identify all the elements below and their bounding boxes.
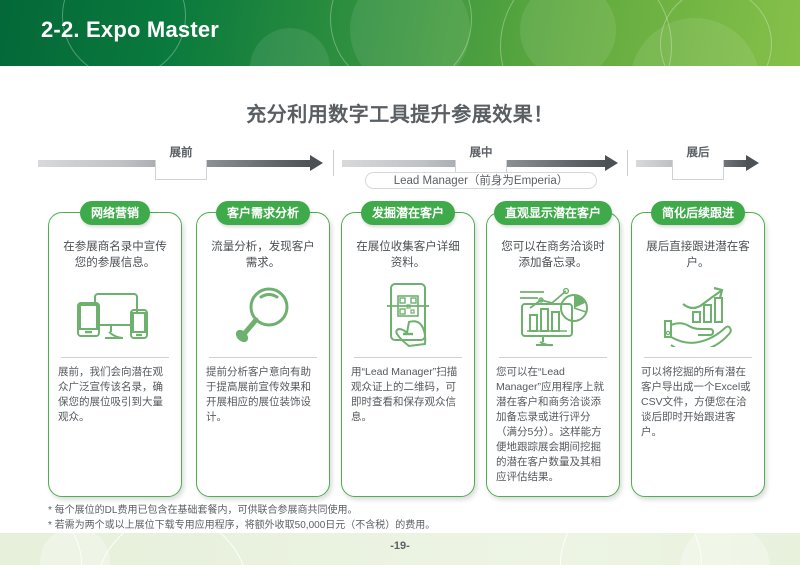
timeline-label-post: 展后: [668, 146, 728, 160]
header-decor-ring: [500, 0, 672, 66]
card-lead-text: 流量分析，发现客户需求。: [206, 239, 320, 271]
card-body-text: 可以将挖掘的所有潜在客户导出成一个Excel或CSV文件，方便您在洽谈后即时开始…: [641, 365, 755, 440]
card-title-pill: 发掘潜在客户: [361, 201, 455, 225]
card-title-pill: 网络营销: [80, 201, 150, 225]
card-divider: [644, 357, 752, 358]
card-online-marketing[interactable]: 网络营销 在参展商名录中宣传您的参展信息。 展前，我们会向潜在观众广泛宣传该名录…: [48, 212, 182, 497]
card-visualize-leads[interactable]: 直观显示潜在客户 您可以在商务洽谈时添加备忘录。 您可以在“Lead Ma: [486, 212, 620, 497]
timeline-arrow-icon: [746, 155, 759, 171]
timeline-segment-pre: 展前: [38, 146, 326, 194]
card-divider: [61, 357, 169, 358]
card-discover-leads[interactable]: 发掘潜在客户 在展位收集客户详细资料。 用“Lead Manager”扫描观众证…: [341, 212, 475, 497]
card-lead-text: 在展位收集客户详细资料。: [351, 239, 465, 271]
timeline-label-pre: 展前: [151, 146, 211, 160]
header-decor-circle: [250, 28, 330, 66]
devices-icon: [49, 277, 181, 355]
timeline-segment-post: 展后: [636, 146, 762, 194]
slide-footer: -19-: [0, 533, 800, 565]
hand-growth-icon: [632, 277, 764, 355]
dashboard-chart-icon: [487, 277, 619, 355]
page-number: -19-: [0, 540, 800, 552]
card-divider: [209, 357, 317, 358]
timeline-segment-during: 展中 Lead Manager（前身为Emperia）: [342, 146, 620, 194]
footnote-line: * 每个展位的DL费用已包含在基础套餐内，可供联合参展商共同使用。: [48, 503, 435, 518]
footnotes: * 每个展位的DL费用已包含在基础套餐内，可供联合参展商共同使用。 * 若需为两…: [48, 503, 435, 533]
magnifier-icon: [197, 277, 329, 355]
page-title-header: 2-2. Expo Master: [41, 17, 219, 43]
timeline: 展前 展中 Lead Manager（前身为Emperia） 展后: [0, 146, 800, 194]
card-customer-demand-analysis[interactable]: 客户需求分析 流量分析，发现客户需求。 提前分析客户意向有助于提高展前宣传效果和…: [196, 212, 330, 497]
timeline-arrow-icon: [310, 155, 323, 171]
card-lead-text: 在参展商名录中宣传您的参展信息。: [58, 239, 172, 271]
card-lead-text: 展后直接跟进潜在客户。: [641, 239, 755, 271]
card-title-pill: 客户需求分析: [216, 201, 310, 225]
card-body-text: 用“Lead Manager”扫描观众证上的二维码，可即时查看和保存观众信息。: [351, 365, 465, 425]
qr-scan-phone-icon: [342, 277, 474, 355]
card-body-text: 提前分析客户意向有助于提高展前宣传效果和开展相应的展位装饰设计。: [206, 365, 320, 425]
card-body-text: 展前，我们会向潜在观众广泛宣传该名录，确保您的展位吸引到大量观众。: [58, 365, 172, 425]
header-decor-ring: [660, 0, 772, 66]
card-title-pill: 直观显示潜在客户: [494, 201, 612, 225]
card-divider: [354, 357, 462, 358]
slide-title: 充分利用数字工具提升参展效果！: [0, 98, 800, 127]
card-title-pill: 简化后续跟进: [651, 201, 745, 225]
slide-header: 2-2. Expo Master: [0, 0, 800, 66]
card-divider: [499, 357, 607, 358]
header-decor-ring: [330, 0, 472, 66]
timeline-divider: [333, 150, 334, 176]
timeline-arrow-icon: [605, 155, 618, 171]
lead-manager-pill: Lead Manager（前身为Emperia）: [365, 172, 597, 189]
card-simplified-followup[interactable]: 简化后续跟进 展后直接跟进潜在客户。 可以将挖掘的所有潜在客户导出成一个Exce…: [631, 212, 765, 497]
footnote-line: * 若需为两个或以上展位下载专用应用程序，将额外收取50,000日元（不含税）的…: [48, 518, 435, 533]
timeline-label-during: 展中: [451, 146, 511, 160]
card-lead-text: 您可以在商务洽谈时添加备忘录。: [496, 239, 610, 271]
card-body-text: 您可以在“Lead Manager”应用程序上就潜在客户和商务洽谈添加备忘录或进…: [496, 365, 610, 485]
timeline-divider: [627, 150, 628, 176]
